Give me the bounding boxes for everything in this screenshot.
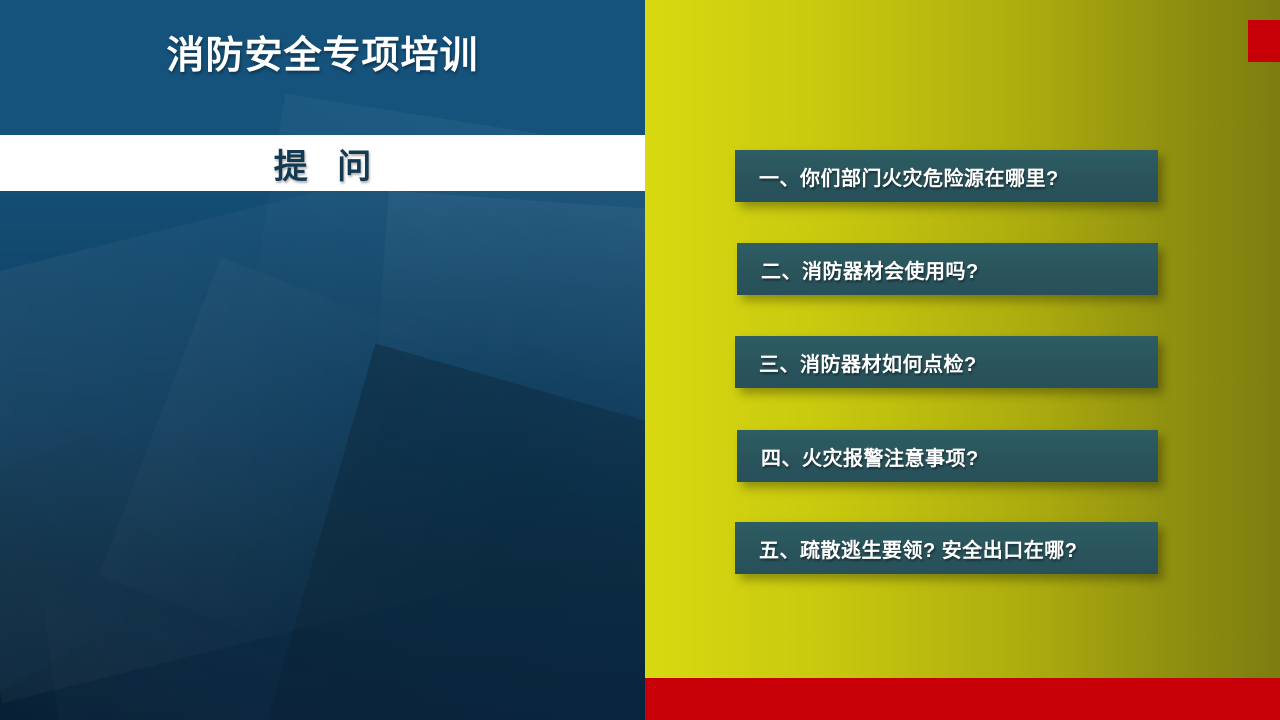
- question-item[interactable]: 二、消防器材会使用吗?: [737, 243, 1158, 295]
- background-polygon-6: [372, 191, 645, 460]
- question-item-label: 三、消防器材如何点检?: [735, 348, 977, 377]
- question-item-label: 二、消防器材会使用吗?: [737, 255, 979, 284]
- red-accent-block: [1248, 20, 1280, 62]
- question-item-label: 四、火灾报警注意事项?: [737, 442, 979, 471]
- left-blue-panel: [0, 0, 645, 720]
- question-item[interactable]: 四、火灾报警注意事项?: [737, 430, 1158, 482]
- background-polygon-3: [0, 325, 515, 720]
- page-title: 消防安全专项培训: [0, 36, 645, 78]
- question-item[interactable]: 五、疏散逃生要领? 安全出口在哪?: [735, 522, 1158, 574]
- background-polygon-4: [249, 343, 645, 720]
- question-item[interactable]: 三、消防器材如何点检?: [735, 336, 1158, 388]
- presentation-slide: 消防安全专项培训 提 问 一、你们部门火灾危险源在哪里? 二、消防器材会使用吗?…: [0, 0, 1280, 720]
- background-polygon-7: [0, 537, 398, 720]
- background-polygon-8: [99, 258, 501, 683]
- section-banner-label: 提 问: [264, 139, 381, 188]
- section-banner: 提 问: [0, 135, 645, 191]
- question-item[interactable]: 一、你们部门火灾危险源在哪里?: [735, 150, 1158, 202]
- question-item-label: 一、你们部门火灾危险源在哪里?: [735, 162, 1059, 191]
- background-polygon-5: [42, 525, 599, 720]
- question-item-label: 五、疏散逃生要领? 安全出口在哪?: [735, 534, 1078, 563]
- bottom-red-bar: [645, 678, 1280, 720]
